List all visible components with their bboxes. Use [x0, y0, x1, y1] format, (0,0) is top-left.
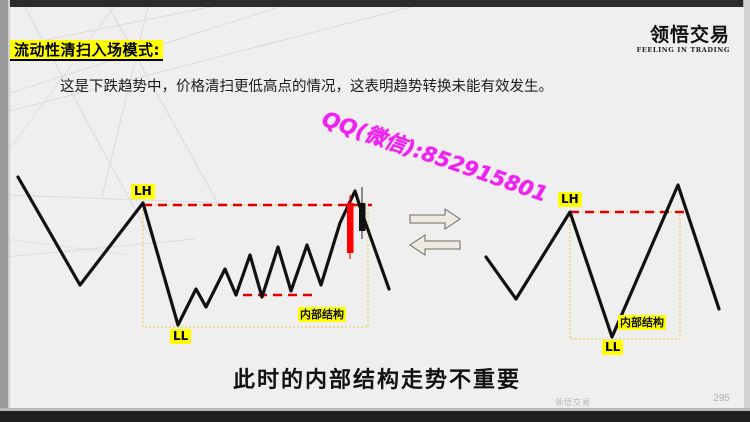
slide-canvas: 流动性清扫入场模式: 这是下跌趋势中，价格清扫更低高点的情况，这表明趋势转换未能…: [10, 7, 744, 408]
footer-brand: 领悟交易: [555, 397, 591, 408]
left-lower-high-label: LH: [131, 184, 155, 199]
left-bear-candle: [359, 187, 366, 239]
left-internal-structure-label: 内部结构: [298, 307, 346, 322]
frame-bottom-edge: [0, 411, 750, 422]
left-bull-candle: [347, 195, 354, 259]
frame-right-edge: [743, 0, 750, 422]
slide-root: 流动性清扫入场模式: 这是下跌趋势中，价格清扫更低高点的情况，这表明趋势转换未能…: [0, 0, 750, 422]
left-lower-low-label: LL: [170, 329, 191, 344]
right-arrow-icon: [410, 209, 460, 229]
bottom-caption: 此时的内部结构走势不重要: [10, 362, 744, 394]
transition-arrows-group: [410, 209, 460, 255]
right-lower-high-label: LH: [558, 192, 582, 207]
right-price-path: [486, 185, 719, 337]
right-chart-group: [486, 185, 719, 339]
left-price-path: [18, 177, 389, 325]
right-lower-low-label: LL: [602, 340, 623, 355]
frame-left-edge: [0, 0, 8, 422]
frame-top-edge: [0, 0, 750, 7]
left-chart-group: [18, 177, 389, 327]
right-internal-structure-label: 内部结构: [618, 315, 666, 330]
price-action-diagram: [10, 7, 744, 408]
page-number: 295: [713, 393, 730, 404]
left-arrow-icon: [410, 235, 460, 255]
